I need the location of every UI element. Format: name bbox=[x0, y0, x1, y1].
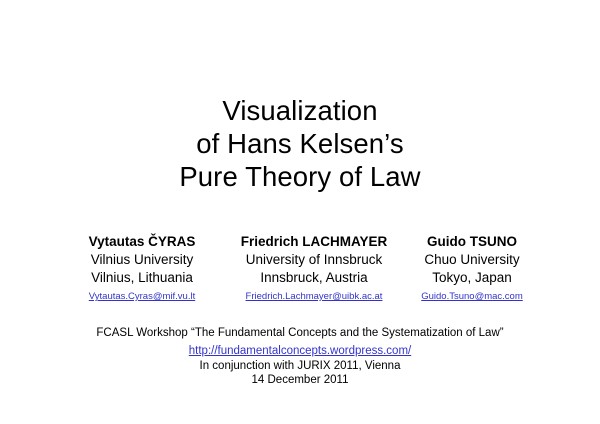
title-line-3: Pure Theory of Law bbox=[0, 160, 600, 193]
author-column-cyras: Vytautas ČYRAS Vilnius University Vilniu… bbox=[62, 233, 222, 304]
author-name: Vytautas ČYRAS bbox=[62, 233, 222, 251]
author-location: Vilnius, Lithuania bbox=[62, 269, 222, 287]
venue-block: FCASL Workshop “The Fundamental Concepts… bbox=[0, 326, 600, 388]
author-name: Friedrich LACHMAYER bbox=[225, 233, 403, 251]
author-location: Tokyo, Japan bbox=[406, 269, 538, 287]
title-line-2: of Hans Kelsen’s bbox=[0, 127, 600, 160]
author-affiliation: University of Innsbruck bbox=[225, 251, 403, 269]
author-affiliation: Vilnius University bbox=[62, 251, 222, 269]
conference-conjunction: In conjunction with JURIX 2011, Vienna bbox=[0, 359, 600, 374]
author-email-link[interactable]: Friedrich.Lachmayer@uibk.ac.at bbox=[246, 291, 383, 303]
author-email-link[interactable]: Guido.Tsuno@mac.com bbox=[421, 291, 523, 303]
author-email-link[interactable]: Vytautas.Cyras@mif.vu.lt bbox=[89, 291, 195, 303]
title-line-1: Visualization bbox=[0, 94, 600, 127]
presentation-slide: Visualization of Hans Kelsen’s Pure Theo… bbox=[0, 0, 600, 424]
event-date: 14 December 2011 bbox=[0, 373, 600, 388]
author-column-tsuno: Guido TSUNO Chuo University Tokyo, Japan… bbox=[406, 233, 538, 304]
author-affiliation: Chuo University bbox=[406, 251, 538, 269]
slide-title: Visualization of Hans Kelsen’s Pure Theo… bbox=[0, 94, 600, 193]
workshop-url-row: http://fundamentalconcepts.wordpress.com… bbox=[0, 341, 600, 359]
workshop-url-link[interactable]: http://fundamentalconcepts.wordpress.com… bbox=[189, 344, 411, 359]
author-column-lachmayer: Friedrich LACHMAYER University of Innsbr… bbox=[225, 233, 403, 304]
author-location: Innsbruck, Austria bbox=[225, 269, 403, 287]
workshop-title: FCASL Workshop “The Fundamental Concepts… bbox=[0, 326, 600, 341]
author-block: Vytautas ČYRAS Vilnius University Vilniu… bbox=[62, 233, 538, 304]
author-name: Guido TSUNO bbox=[406, 233, 538, 251]
